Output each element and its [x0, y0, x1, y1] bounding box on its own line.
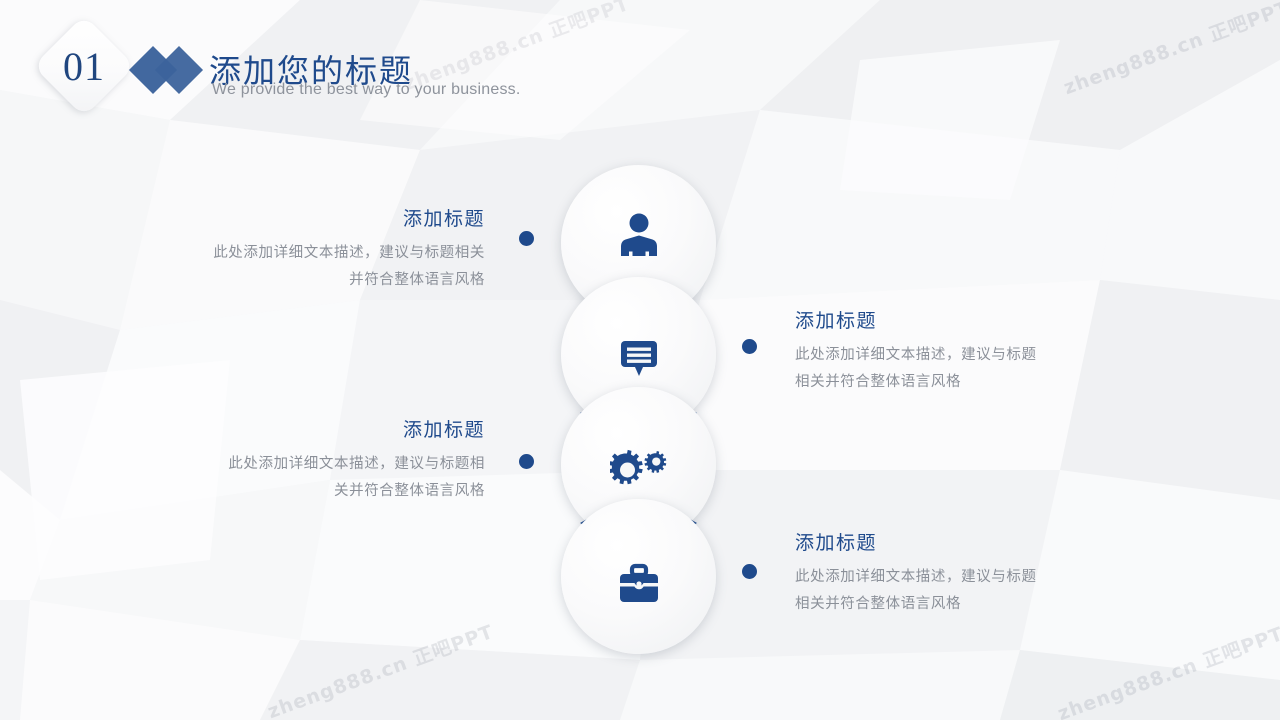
briefcase-icon [561, 506, 716, 661]
bullet-1 [519, 231, 534, 246]
text-block-4-line1: 此处添加详细文本描述，建议与标题 [795, 564, 1145, 591]
text-block-3-line2: 关并符合整体语言风格 [140, 478, 485, 505]
page-subtitle: We provide the best way to your business… [212, 81, 521, 99]
diamond-decoration-icon [136, 46, 202, 94]
section-number-label: 01 [48, 30, 120, 102]
text-block-1-line1: 此处添加详细文本描述，建议与标题相关 [140, 240, 485, 267]
text-block-1-line2: 并符合整体语言风格 [140, 267, 485, 294]
text-block-3-line1: 此处添加详细文本描述，建议与标题相 [140, 451, 485, 478]
text-block-2-line1: 此处添加详细文本描述，建议与标题 [795, 342, 1145, 369]
text-block-4: 添加标题 此处添加详细文本描述，建议与标题 相关并符合整体语言风格 [795, 534, 1145, 618]
bullet-2 [742, 339, 757, 354]
bullet-3 [519, 454, 534, 469]
slide-canvas: zheng888.cn 正吧PPT zheng888.cn 正吧PPT zhen… [0, 0, 1280, 720]
text-block-2-title: 添加标题 [795, 312, 1145, 333]
text-block-3-title: 添加标题 [140, 421, 485, 442]
text-block-4-title: 添加标题 [795, 534, 1145, 555]
text-block-2-line2: 相关并符合整体语言风格 [795, 369, 1145, 396]
text-block-1-title: 添加标题 [140, 210, 485, 231]
text-block-2: 添加标题 此处添加详细文本描述，建议与标题 相关并符合整体语言风格 [795, 312, 1145, 396]
text-block-1: 添加标题 此处添加详细文本描述，建议与标题相关 并符合整体语言风格 [140, 210, 485, 294]
bullet-4 [742, 564, 757, 579]
text-block-3: 添加标题 此处添加详细文本描述，建议与标题相 关并符合整体语言风格 [140, 421, 485, 505]
text-block-4-line2: 相关并符合整体语言风格 [795, 591, 1145, 618]
